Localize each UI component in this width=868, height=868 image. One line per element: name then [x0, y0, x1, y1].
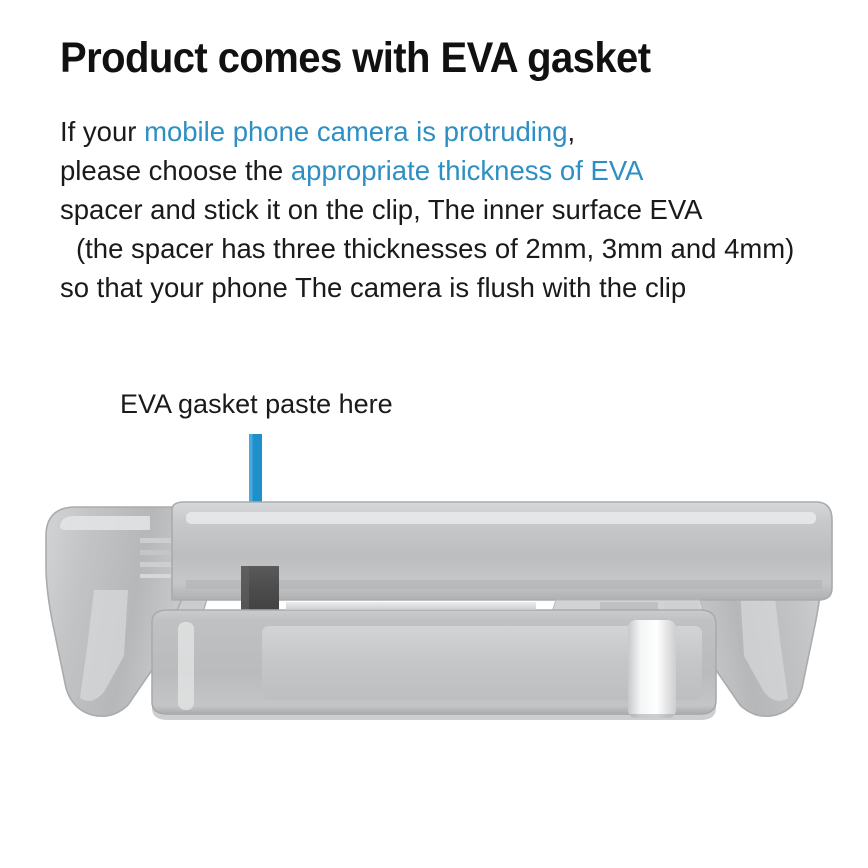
line1-prefix: If your	[60, 116, 144, 147]
line2-prefix: please choose the	[60, 155, 291, 186]
clip-edge-strip	[286, 602, 536, 610]
description-line-4: (the spacer has three thicknesses of 2mm…	[60, 229, 850, 268]
line1-highlight: mobile phone camera is protruding	[144, 116, 567, 147]
description-line-1: If your mobile phone camera is protrudin…	[60, 112, 850, 151]
phone-clip-side-view	[0, 470, 868, 770]
description-paragraph: If your mobile phone camera is protrudin…	[60, 112, 850, 307]
description-line-5: so that your phone The camera is flush w…	[60, 268, 850, 307]
description-line-2: please choose the appropriate thickness …	[60, 151, 850, 190]
description-line-3: spacer and stick it on the clip, The inn…	[60, 190, 850, 229]
page-title: Product comes with EVA gasket	[60, 34, 650, 83]
line1-suffix: ,	[568, 116, 576, 147]
callout-label: EVA gasket paste here	[120, 389, 393, 420]
infographic-page: Product comes with EVA gasket If your mo…	[0, 0, 868, 868]
line2-highlight: appropriate thickness of EVA	[291, 155, 644, 186]
phone-body	[152, 610, 716, 720]
